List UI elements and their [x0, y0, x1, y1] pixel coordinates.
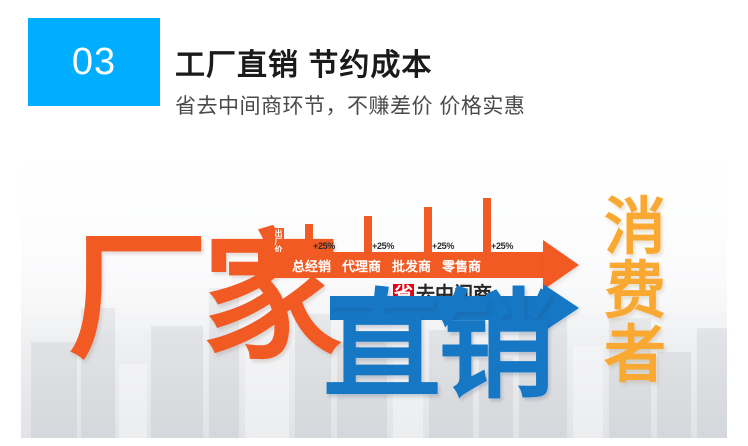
- distributor-label-agent: 代理商: [342, 256, 381, 275]
- consumer-char: 者: [604, 324, 666, 388]
- headline-direct-sale: 直销: [323, 288, 551, 406]
- page-title: 工厂直销 节约成本: [175, 40, 432, 84]
- distributor-label-row: 总经销 代理商 批发商 零售商: [258, 252, 548, 278]
- consumer-label: 消 费 者: [604, 196, 666, 388]
- markup-bar: [424, 207, 432, 252]
- markup-percent-label: +25%: [313, 241, 335, 251]
- skyline-block: [697, 328, 727, 438]
- distributor-label-retailer: 零售商: [442, 256, 481, 275]
- markup-percent-label: +25%: [491, 241, 513, 251]
- distributor-label-wholesaler: 批发商: [392, 256, 431, 275]
- markup-percent-label: +25%: [432, 241, 454, 251]
- consumer-char: 消: [604, 196, 666, 260]
- markup-bar: [364, 216, 372, 252]
- skyline-block: [573, 346, 603, 438]
- markup-bar: [305, 224, 313, 252]
- page-subtitle: 省去中间商环节，不赚差价 价格实惠: [175, 90, 525, 120]
- header-section: 03 工厂直销 节约成本 省去中间商环节，不赚差价 价格实惠: [0, 0, 748, 150]
- markup-bar: [483, 198, 491, 252]
- distributor-chain-bar: 总经销 代理商 批发商 零售商: [258, 252, 548, 278]
- step-number-label: 03: [72, 41, 116, 84]
- consumer-char: 费: [604, 260, 666, 324]
- headline-factory: 厂家: [68, 228, 336, 368]
- factory-price-label: 出厂价: [266, 229, 282, 253]
- distributor-label-general-agent: 总经销: [292, 256, 331, 275]
- step-number-badge: 03: [28, 18, 160, 106]
- markup-percent-label: +25%: [372, 241, 394, 251]
